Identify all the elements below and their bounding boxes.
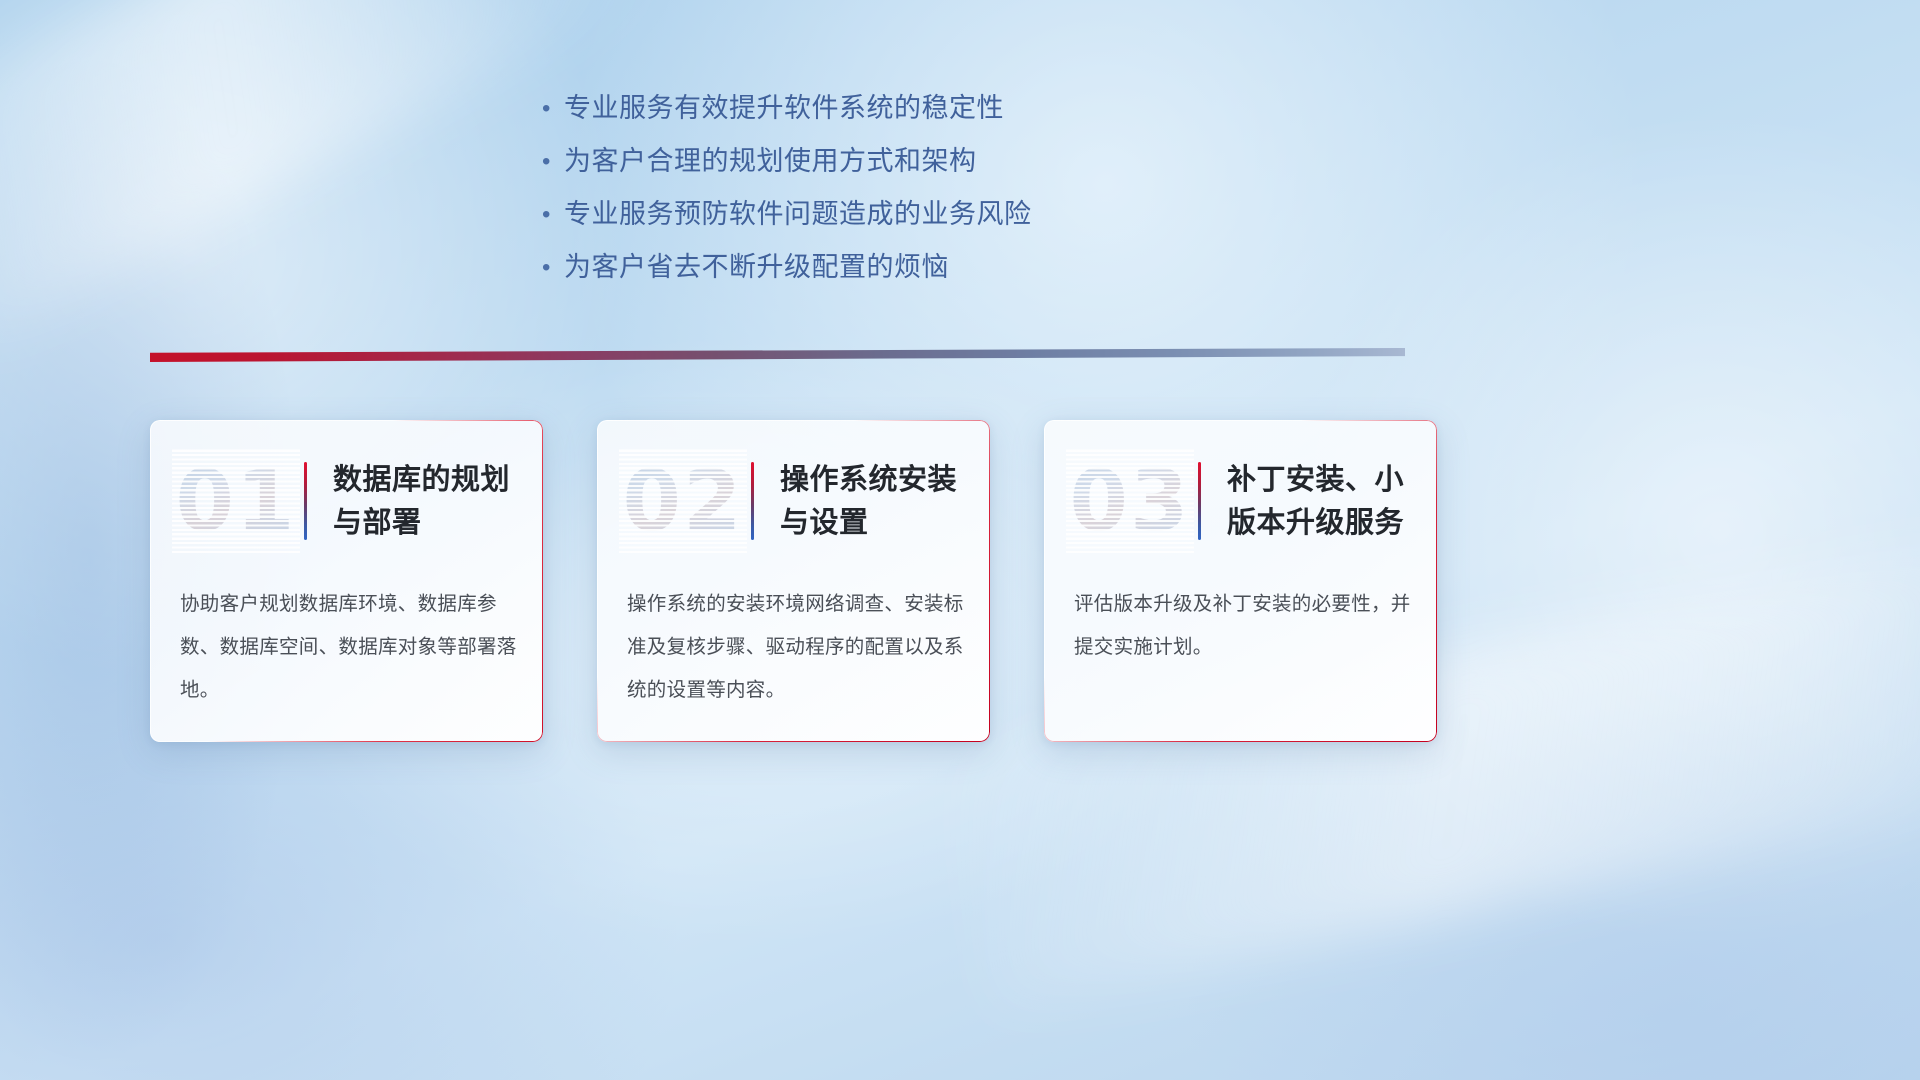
service-card-row: 01 数据库的规划与部署 协助客户规划数据库环境、数据库参数、数据库空间、数据库… [0,420,1920,760]
card-number-glyph: 02 [619,449,747,553]
bullet-text: 专业服务预防软件问题造成的业务风险 [564,192,1032,238]
slide-canvas: • 专业服务有效提升软件系统的稳定性 • 为客户合理的规划使用方式和架构 • 专… [0,0,1920,1080]
bullet-text: 专业服务有效提升软件系统的稳定性 [564,86,1004,132]
service-card-02[interactable]: 02 操作系统安装与设置 操作系统的安装环境网络调查、安装标准及复核步骤、驱动程… [597,420,990,742]
card-body-text: 协助客户规划数据库环境、数据库参数、数据库空间、数据库对象等部署落地。 [180,582,517,711]
bullet-dot-icon: • [534,86,564,132]
card-number-glyph: 03 [1066,449,1194,553]
card-number-glyph: 01 [172,449,300,553]
card-header: 03 补丁安装、小版本升级服务 [1044,442,1437,560]
card-header: 02 操作系统安装与设置 [597,442,990,560]
card-number-03: 03 [1066,449,1194,553]
bullet-text: 为客户省去不断升级配置的烦恼 [564,245,949,291]
section-divider [150,348,1405,362]
service-card-03[interactable]: 03 补丁安装、小版本升级服务 评估版本升级及补丁安装的必要性，并提交实施计划。 [1044,420,1437,742]
card-title: 补丁安装、小版本升级服务 [1201,458,1437,544]
bullet-dot-icon: • [534,139,564,185]
bullet-text: 为客户合理的规划使用方式和架构 [564,139,977,185]
card-title: 操作系统安装与设置 [754,458,990,544]
list-item: • 为客户省去不断升级配置的烦恼 [534,245,1294,297]
list-item: • 专业服务预防软件问题造成的业务风险 [534,192,1294,244]
list-item: • 为客户合理的规划使用方式和架构 [534,139,1294,191]
divider-gradient-bar [150,348,1405,362]
card-body-text: 评估版本升级及补丁安装的必要性，并提交实施计划。 [1074,582,1411,668]
list-item: • 专业服务有效提升软件系统的稳定性 [534,86,1294,138]
card-number-01: 01 [172,449,300,553]
bullet-dot-icon: • [534,192,564,238]
benefits-bullet-list: • 专业服务有效提升软件系统的稳定性 • 为客户合理的规划使用方式和架构 • 专… [534,86,1294,298]
card-body-text: 操作系统的安装环境网络调查、安装标准及复核步骤、驱动程序的配置以及系统的设置等内… [627,582,964,711]
card-title: 数据库的规划与部署 [307,458,543,544]
service-card-01[interactable]: 01 数据库的规划与部署 协助客户规划数据库环境、数据库参数、数据库空间、数据库… [150,420,543,742]
card-header: 01 数据库的规划与部署 [150,442,543,560]
card-number-02: 02 [619,449,747,553]
bullet-dot-icon: • [534,245,564,291]
